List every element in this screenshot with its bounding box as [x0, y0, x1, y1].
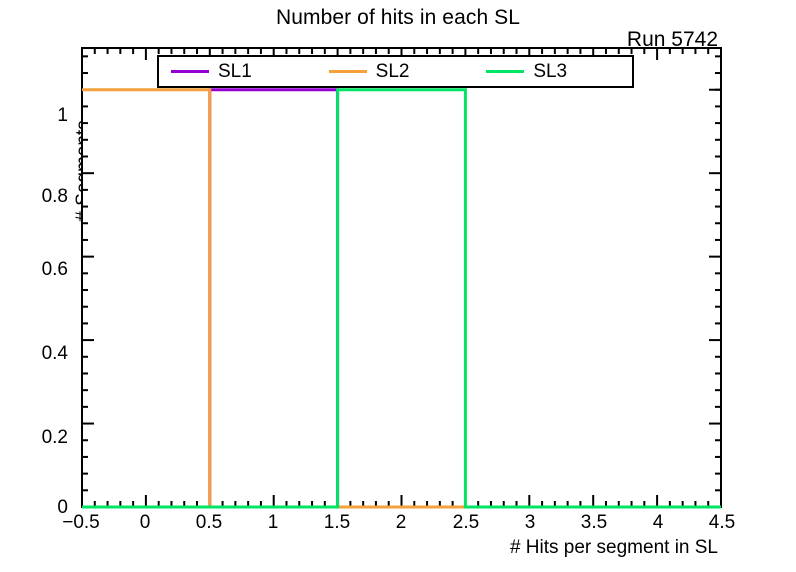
legend-swatch-icon — [329, 70, 367, 73]
root-canvas: Number of hits in each SL Run 5742 # Seg… — [0, 0, 796, 572]
axis-ticks — [82, 48, 721, 507]
legend-box: SL1 SL2 SL3 — [157, 55, 634, 88]
histogram-series-sl1 — [82, 90, 721, 507]
legend-entry-sl2[interactable]: SL2 — [317, 57, 475, 86]
histogram-series-sl3 — [82, 90, 721, 507]
legend-entry-sl1[interactable]: SL1 — [159, 57, 317, 86]
legend-label: SL1 — [218, 62, 252, 81]
histogram-series-sl2 — [82, 90, 721, 507]
legend-swatch-icon — [486, 70, 524, 73]
legend-swatch-icon — [171, 70, 209, 73]
legend-label: SL2 — [376, 62, 410, 81]
legend-entry-sl3[interactable]: SL3 — [474, 57, 632, 86]
legend-label: SL3 — [533, 62, 567, 81]
histogram-curves — [82, 90, 721, 507]
